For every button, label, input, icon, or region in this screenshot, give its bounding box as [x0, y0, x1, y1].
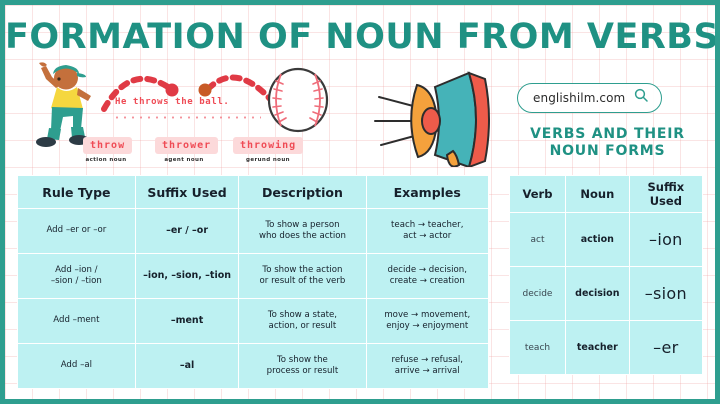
cell-rule-type: Add –ment	[18, 299, 136, 344]
cell-rule-type: Add –ion / –sion / –tion	[18, 254, 136, 299]
example-sentence: He throws the ball.	[115, 97, 229, 107]
page-subtitle: VERBS AND THEIR NOUN FORMS	[505, 126, 710, 160]
verbs-table: Verb Noun Suffix Used act action –ion de…	[509, 175, 703, 375]
tables-region: Rule Type Suffix Used Description Exampl…	[5, 167, 715, 399]
cell-noun: decision	[565, 267, 629, 321]
word-tag-thrower: thrower	[155, 137, 218, 154]
table-row: Add –ion / –sion / –tion –ion, –sion, –t…	[18, 254, 489, 299]
cell-description: To show a person who does the action	[239, 209, 366, 254]
cell-suffix: –al	[135, 344, 239, 389]
brand-pill[interactable]: englishilm.com	[517, 83, 662, 113]
verbs-table-container: Verb Noun Suffix Used act action –ion de…	[509, 175, 703, 375]
infographic-page: FORMATION OF NOUN FROM VERBS	[0, 0, 720, 404]
cell-rule-type: Add –er or –or	[18, 209, 136, 254]
brand-label: englishilm.com	[533, 91, 625, 105]
cell-description: To show a state, action, or result	[239, 299, 366, 344]
cell-examples: decide → decision, create → creation	[366, 254, 488, 299]
megaphone-icon	[373, 63, 491, 172]
word-tag-throw-label: action noun	[75, 157, 137, 163]
column-header-rule-type: Rule Type	[18, 176, 136, 209]
table-row: Add –ment –ment To show a state, action,…	[18, 299, 489, 344]
cell-suffix: –ment	[135, 299, 239, 344]
cell-noun: action	[565, 213, 629, 267]
column-header-suffix-used: Suffix Used	[135, 176, 239, 209]
table-header-row: Verb Noun Suffix Used	[510, 176, 703, 213]
cell-description: To show the action or result of the verb	[239, 254, 366, 299]
cell-verb: teach	[510, 321, 566, 375]
column-header-verb: Verb	[510, 176, 566, 213]
column-header-noun: Noun	[565, 176, 629, 213]
rules-table-container: Rule Type Suffix Used Description Exampl…	[17, 175, 489, 389]
cell-suffix: –sion	[629, 267, 702, 321]
word-tag-throwing-label: gerund noun	[233, 157, 303, 163]
cell-suffix: –ion, –sion, –tion	[135, 254, 239, 299]
column-header-suffix-used-2: Suffix Used	[629, 176, 702, 213]
word-tag-throw: throw	[83, 137, 132, 154]
page-title: FORMATION OF NOUN FROM VERBS	[5, 17, 715, 57]
word-tag-thrower-label: agent noun	[153, 157, 215, 163]
cell-examples: teach → teacher, act → actor	[366, 209, 488, 254]
word-tag-throwing: throwing	[233, 137, 303, 154]
cell-verb: decide	[510, 267, 566, 321]
cell-suffix: –er	[629, 321, 702, 375]
cell-verb: act	[510, 213, 566, 267]
subtitle-line-1: VERBS AND THEIR	[530, 126, 685, 142]
table-row: decide decision –sion	[510, 267, 703, 321]
baseball-icon	[267, 67, 329, 138]
rules-table: Rule Type Suffix Used Description Exampl…	[17, 175, 489, 389]
table-row: Add –er or –or –er / –or To show a perso…	[18, 209, 489, 254]
hero-illustration-area: FORMATION OF NOUN FROM VERBS	[5, 5, 715, 167]
cell-rule-type: Add –al	[18, 344, 136, 389]
table-row: Add –al –al To show the process or resul…	[18, 344, 489, 389]
column-header-examples: Examples	[366, 176, 488, 209]
cell-suffix: –er / –or	[135, 209, 239, 254]
table-row: teach teacher –er	[510, 321, 703, 375]
cell-examples: move → movement, enjoy → enjoyment	[366, 299, 488, 344]
table-row: act action –ion	[510, 213, 703, 267]
cell-description: To show the process or result	[239, 344, 366, 389]
subtitle-line-2: NOUN FORMS	[550, 143, 666, 159]
dotted-underline	[113, 116, 261, 119]
cell-examples: refuse → refusal, arrive → arrival	[366, 344, 488, 389]
table-header-row: Rule Type Suffix Used Description Exampl…	[18, 176, 489, 209]
cell-suffix: –ion	[629, 213, 702, 267]
search-icon	[634, 88, 648, 107]
cell-noun: teacher	[565, 321, 629, 375]
column-header-description: Description	[239, 176, 366, 209]
